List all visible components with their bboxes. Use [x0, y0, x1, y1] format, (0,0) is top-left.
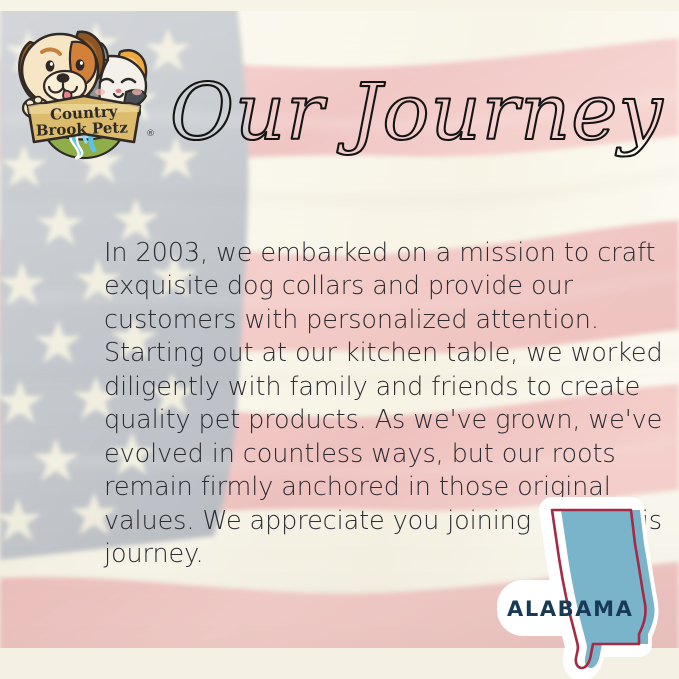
logo-banner-line2: Brook Petz — [36, 118, 129, 139]
country-brook-petz-logo: Country Brook Petz ® — [8, 8, 160, 160]
page-title: Our Journey — [168, 57, 588, 167]
registered-trademark-icon: ® — [146, 129, 155, 139]
state-badge-label: ALABAMA — [507, 597, 634, 621]
page-title-text: Our Journey — [170, 68, 663, 158]
journey-card: Country Brook Petz ® Our Journey In 2003… — [0, 0, 679, 679]
alabama-state-badge: ALABAMA — [489, 492, 679, 679]
